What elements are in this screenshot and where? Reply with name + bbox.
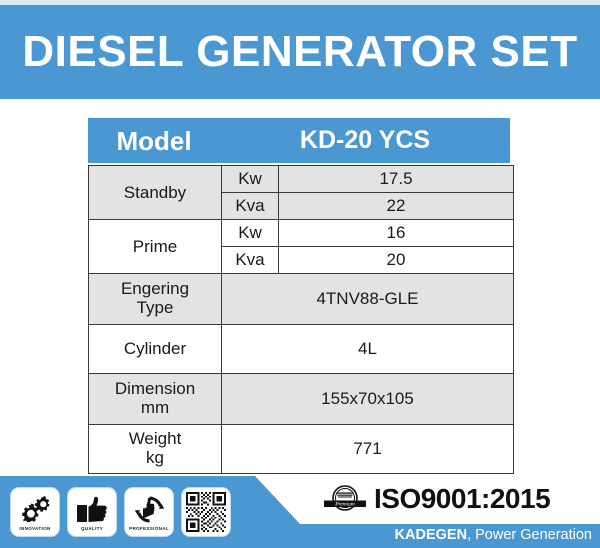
row-label-standby: Standby: [89, 166, 222, 220]
iso-seal-label: Premium: [334, 501, 355, 507]
gears-icon: [18, 494, 52, 525]
row-label-line1: Dimension: [89, 380, 221, 399]
badge-innovation[interactable]: INNOVATION: [10, 487, 60, 537]
row-value-weight: 771: [222, 425, 514, 474]
qr-code-icon: [186, 492, 226, 532]
badge-label: PROFESSIONAL: [129, 526, 169, 531]
row-label-prime: Prime: [89, 220, 222, 274]
table-row: Weight kg 771: [89, 425, 514, 474]
row-value-standby-kva: 22: [279, 193, 514, 220]
table-row: Standby Kw 17.5: [89, 166, 514, 193]
badge-professional[interactable]: PROFESSIONAL: [124, 487, 174, 537]
qr-code[interactable]: [181, 487, 231, 537]
row-unit-prime-kw: Kw: [222, 220, 279, 247]
page-footer: INNOVATION QUALITY: [0, 476, 600, 548]
company-signature: KADEGEN, Power Generation: [395, 528, 592, 543]
badge-label: INNOVATION: [19, 526, 50, 531]
thumbs-up-icon: [76, 494, 108, 525]
table-row: Dimension mm 155x70x105: [89, 374, 514, 425]
row-label-cylinder: Cylinder: [89, 325, 222, 374]
row-unit-standby-kw: Kw: [222, 166, 279, 193]
fist-arrows-icon: [134, 494, 165, 525]
row-value-standby-kw: 17.5: [279, 166, 514, 193]
row-label-line1: Weight: [89, 430, 221, 449]
company-name: KADEGEN: [395, 527, 468, 543]
table-header-row: Model KD-20 YCS: [88, 118, 510, 163]
row-value-prime-kw: 16: [279, 220, 514, 247]
row-value-dimension: 155x70x105: [222, 374, 514, 425]
specification-table: Model KD-20 YCS Standby Kw 17.5 Kva 22 P…: [88, 118, 510, 474]
table-row: Engering Type 4TNV88-GLE: [89, 274, 514, 325]
row-label-line2: Type: [89, 299, 221, 318]
model-value: KD-20 YCS: [220, 128, 510, 153]
table-row: Prime Kw 16: [89, 220, 514, 247]
row-label-dimension: Dimension mm: [89, 374, 222, 425]
company-tagline: , Power Generation: [467, 527, 592, 543]
iso-certification: Premium ISO9001:2015: [322, 484, 550, 514]
iso-standard-text: ISO9001:2015: [374, 485, 550, 513]
row-label-line2: mm: [89, 399, 221, 418]
row-unit-standby-kva: Kva: [222, 193, 279, 220]
row-label-line1: Engering: [89, 280, 221, 299]
row-label-line2: kg: [89, 449, 221, 468]
iso-seal-icon: Premium: [322, 484, 368, 514]
model-label: Model: [88, 128, 220, 154]
page-banner: DIESEL GENERATOR SET: [0, 5, 600, 99]
row-unit-prime-kva: Kva: [222, 247, 279, 274]
badge-label: QUALITY: [81, 526, 103, 531]
row-value-cylinder: 4L: [222, 325, 514, 374]
badge-quality[interactable]: QUALITY: [67, 487, 117, 537]
table-row: Cylinder 4L: [89, 325, 514, 374]
page-title: DIESEL GENERATOR SET: [22, 30, 577, 74]
row-value-prime-kva: 20: [279, 247, 514, 274]
certification-badges: INNOVATION QUALITY: [10, 487, 231, 537]
row-label-engering-type: Engering Type: [89, 274, 222, 325]
row-label-weight: Weight kg: [89, 425, 222, 474]
row-value-engering-type: 4TNV88-GLE: [222, 274, 514, 325]
